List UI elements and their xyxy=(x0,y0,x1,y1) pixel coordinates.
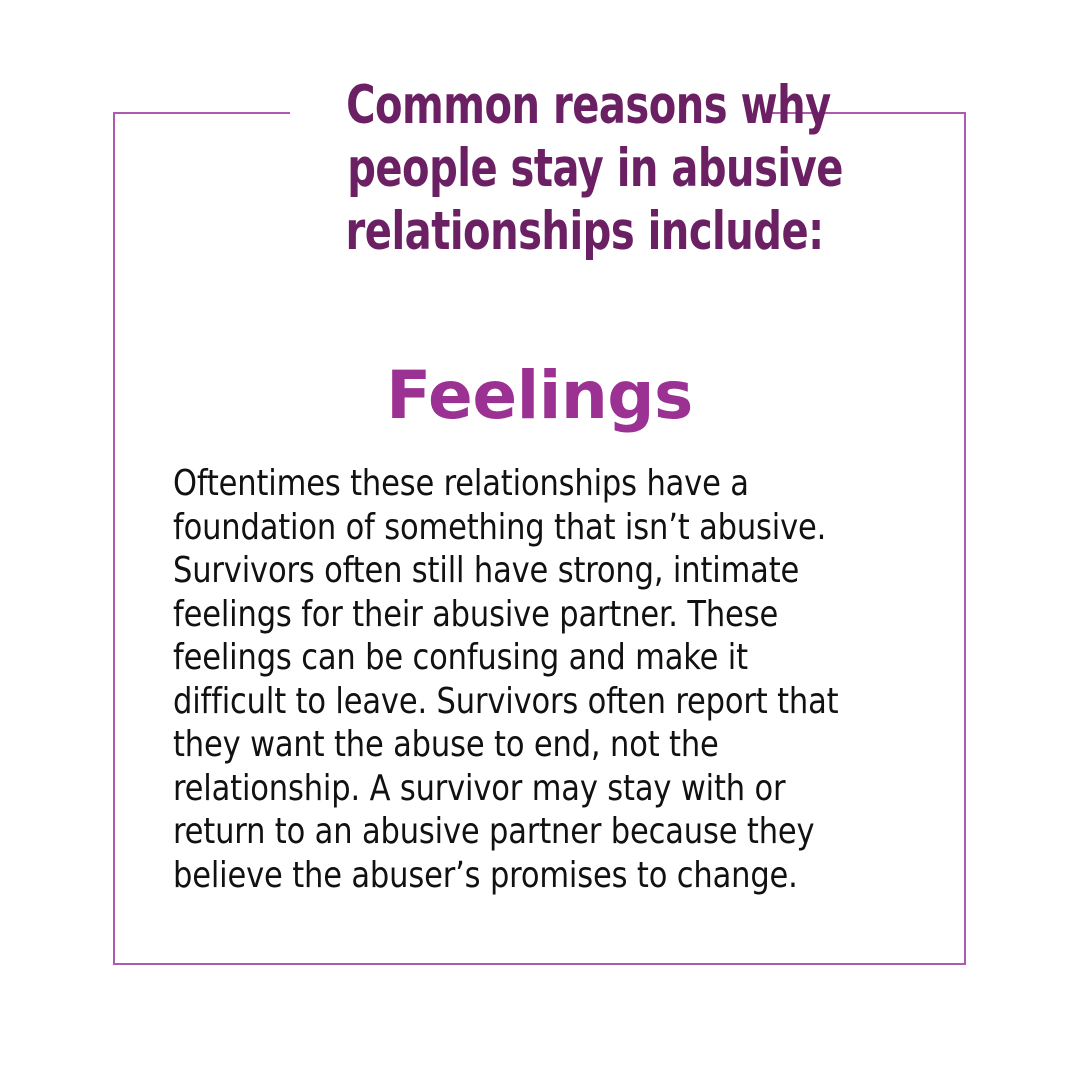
card-border-bottom xyxy=(113,963,966,965)
card-heading: Common reasons why people stay in abusiv… xyxy=(300,74,780,263)
info-card: Common reasons why people stay in abusiv… xyxy=(113,112,966,965)
body-line: Oftentimes these relationships have a xyxy=(173,462,913,506)
body-line: relationship. A survivor may stay with o… xyxy=(173,767,913,811)
card-heading-line-2: people stay in abusive xyxy=(300,137,780,200)
body-line: foundation of something that isn’t abusi… xyxy=(173,506,913,550)
card-subheading: Feelings xyxy=(113,360,966,432)
body-line: feelings can be confusing and make it xyxy=(173,636,913,680)
card-heading-line-3: relationships include: xyxy=(300,200,780,263)
body-line: feelings for their abusive partner. Thes… xyxy=(173,593,913,637)
body-line: they want the abuse to end, not the xyxy=(173,723,913,767)
card-border-top-left xyxy=(113,112,290,114)
body-line: Survivors often still have strong, intim… xyxy=(173,549,913,593)
card-border-left xyxy=(113,112,115,965)
card-border-right xyxy=(964,112,966,965)
body-line: difficult to leave. Survivors often repo… xyxy=(173,680,913,724)
card-body-text: Oftentimes these relationships have a fo… xyxy=(173,462,913,897)
body-line: return to an abusive partner because the… xyxy=(173,810,913,854)
body-line: believe the abuser’s promises to change. xyxy=(173,854,913,898)
card-heading-line-1: Common reasons why xyxy=(300,74,780,137)
